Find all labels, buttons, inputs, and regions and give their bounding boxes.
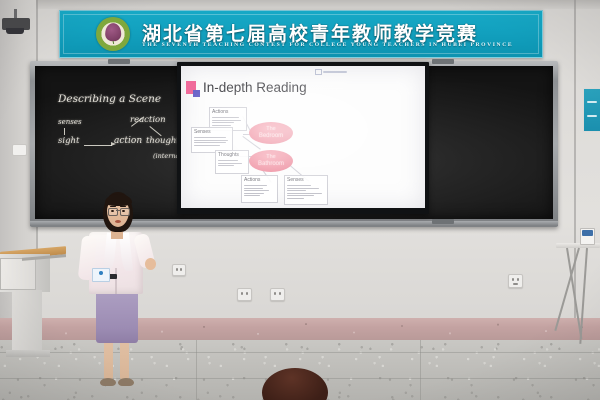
wall-power-outlet-center-2[interactable] <box>270 288 285 301</box>
teacher-glasses-bridge <box>116 210 120 211</box>
badge-emblem <box>99 271 103 275</box>
device-screen <box>582 230 593 236</box>
wall-light-switch[interactable] <box>12 144 27 156</box>
contestant-badge <box>92 268 110 282</box>
chalk-action: action <box>114 136 142 146</box>
logo-mark <box>315 69 322 75</box>
wall-baseboard <box>0 318 600 340</box>
teacher-brow-left <box>110 206 116 207</box>
presentation-slide[interactable]: In-depth Reading Actions Senses Thoughts <box>181 66 425 208</box>
university-logo <box>315 69 347 75</box>
blackboard-clip-bottom <box>432 219 454 224</box>
lectern-column <box>12 290 42 352</box>
teacher-mouth <box>115 220 121 223</box>
banner-english-title: THE SEVENTH TEACHING CONTEST FOR COLLEGE… <box>142 42 513 48</box>
node-label: Thoughts <box>218 152 239 158</box>
node-body-text <box>212 117 244 127</box>
node-label: Actions <box>244 177 260 183</box>
teacher-hand-right <box>145 258 156 270</box>
node-body-text <box>244 185 275 198</box>
blackboard-clip-right <box>432 59 454 64</box>
node-box-thoughts: Thoughts <box>215 150 249 174</box>
title-accent-square-secondary <box>193 90 200 97</box>
oval-line-2: Bathroom <box>258 161 284 167</box>
slide-title: In-depth Reading <box>203 80 307 95</box>
teacher-eye-right <box>122 210 125 212</box>
chalk-arrow-shaft <box>84 145 112 146</box>
teacher-glasses-right-lens <box>120 208 130 216</box>
wall-power-outlet[interactable] <box>508 274 523 288</box>
lotus-emblem <box>96 17 130 51</box>
projector-lens-housing <box>6 28 24 34</box>
node-label: Senses <box>287 177 304 183</box>
wall-power-outlet-left[interactable] <box>172 264 186 276</box>
classroom-scene: 湖北省第七届高校青年教师教学竞赛 THE SEVENTH TEACHING CO… <box>0 0 600 400</box>
oval-line-2: Bedroom <box>259 133 283 139</box>
chalk-sight: sight <box>58 136 79 146</box>
oval-the-bedroom: The Bedroom <box>249 122 293 144</box>
contest-banner: 湖北省第七届高校青年教师教学竞赛 THE SEVENTH TEACHING CO… <box>59 10 543 58</box>
node-box-senses-bottom: Senses <box>284 175 328 205</box>
chalk-reaction: reaction <box>130 115 166 125</box>
wall-power-outlet-center[interactable] <box>237 288 252 301</box>
lectern-front-panel <box>0 258 36 290</box>
teacher-shoe-right <box>118 378 134 386</box>
floor-tile-line-3 <box>196 340 197 400</box>
chalk-heading: Describing a Scene <box>58 93 161 105</box>
node-label: Actions <box>212 109 228 115</box>
chalk-tick-senses <box>64 128 65 135</box>
blackboard-clip-left <box>108 59 130 64</box>
wall-information-sign <box>583 88 600 132</box>
teacher-eye-left <box>111 210 114 212</box>
ceiling-strip <box>0 0 600 9</box>
floor-tile-line-1 <box>0 352 600 353</box>
emblem-petal <box>105 23 121 41</box>
teacher-brow-right <box>120 206 126 207</box>
node-body-text <box>194 137 230 147</box>
teacher-bangs <box>105 194 132 206</box>
chalk-senses: senses <box>58 118 82 126</box>
node-body-text <box>218 160 246 168</box>
node-box-actions-bottom: Actions <box>241 175 278 203</box>
node-label: Senses <box>194 129 211 135</box>
node-body-text <box>287 185 325 201</box>
teacher-jacket-center-seam <box>115 268 117 294</box>
logo-wordmark <box>323 71 347 73</box>
recording-device[interactable] <box>580 228 595 245</box>
wall-seam-right <box>574 0 576 318</box>
teacher-shoe-left <box>100 378 116 386</box>
lectern-base <box>6 350 50 357</box>
oval-the-bathroom: The Bathroom <box>249 150 293 172</box>
floor-tile-line-4 <box>420 340 421 400</box>
